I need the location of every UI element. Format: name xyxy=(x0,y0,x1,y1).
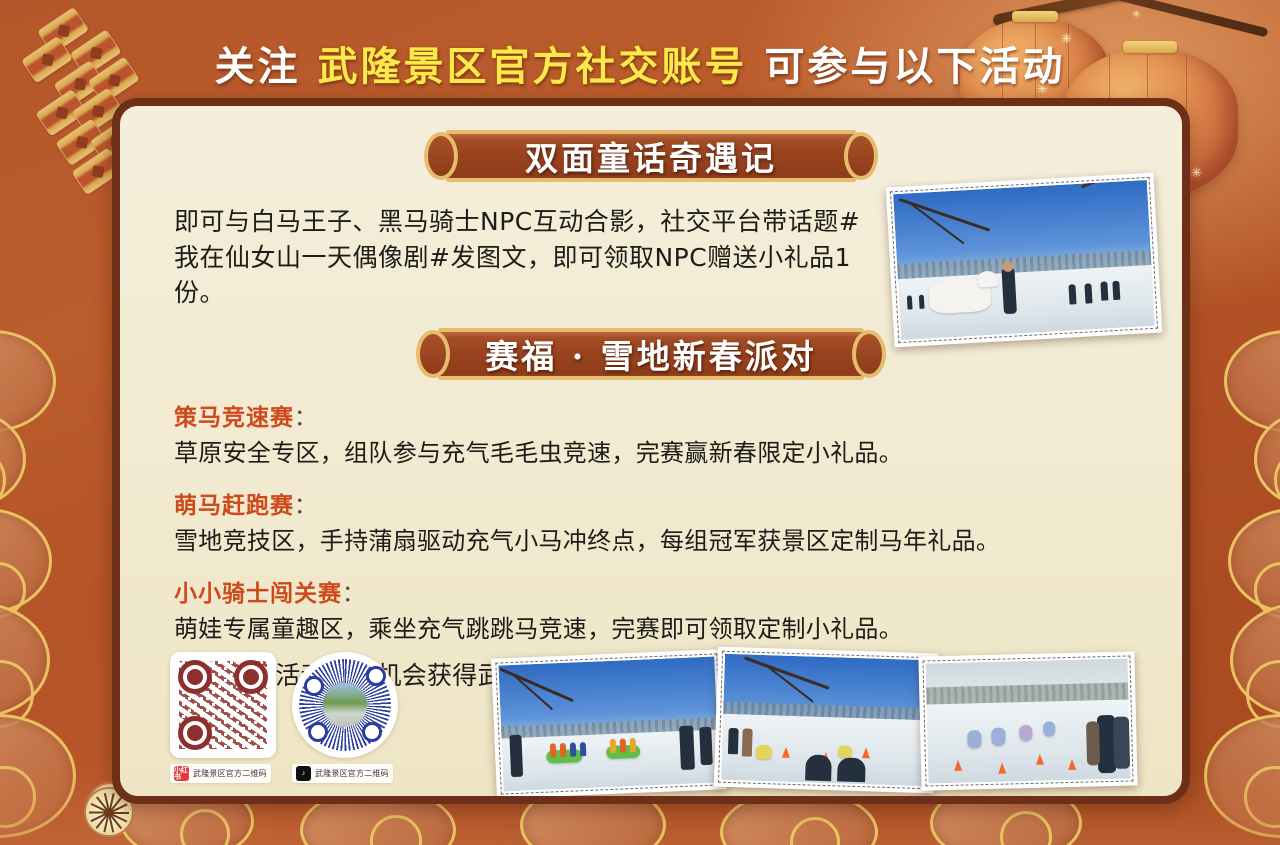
title-highlight: 武隆景区官方社交账号 xyxy=(318,44,748,90)
activity-description: 草原安全专区，组队参与充气毛毛虫竞速，完赛赢新春限定小礼品。 xyxy=(174,433,1154,468)
photo-cone-track xyxy=(918,651,1137,790)
douyin-icon: ♪ xyxy=(296,766,311,781)
main-content-card: 双面童话奇遇记 即可与白马王子、黑马骑士NPC互动合影，社交平台带话题#我在仙女… xyxy=(112,98,1190,804)
qr-caption: 武隆景区官方二维码 xyxy=(315,768,389,779)
photo-snow-field xyxy=(714,647,938,794)
activity-colon: ： xyxy=(294,493,318,519)
photo-horse-rider xyxy=(886,173,1163,348)
activity-item: 萌马赶跑赛： 雪地竞技区，手持蒲扇驱动充气小马冲终点，每组冠军获景区定制马年礼品… xyxy=(174,486,1154,556)
qr-caption: 武隆景区官方二维码 xyxy=(193,768,267,779)
activity-item: 策马竞速赛： 草原安全专区，组队参与充气毛毛虫竞速，完赛赢新春限定小礼品。 xyxy=(174,398,1154,468)
section-banner-snowparty: 赛福 · 雪地新春派对 xyxy=(425,328,877,380)
activity-heading: 萌马赶跑赛 xyxy=(174,493,294,519)
activity-colon: ： xyxy=(342,581,366,607)
qr-image-douyin[interactable] xyxy=(292,652,398,758)
qr-label-xiaohongshu: 小红书 武隆景区官方二维码 xyxy=(170,764,271,783)
title-prefix: 关注 xyxy=(215,44,301,90)
branch-icon xyxy=(992,0,1280,27)
section-banner-fairytale: 双面童话奇遇记 xyxy=(433,130,869,182)
activity-colon: ： xyxy=(294,405,318,431)
intro-paragraph: 即可与白马王子、黑马骑士NPC互动合影，社交平台带话题#我在仙女山一天偶像剧#发… xyxy=(174,204,874,311)
branch-icon xyxy=(1101,0,1268,37)
photo-caterpillar-race xyxy=(491,649,727,799)
poster-root: ✳ ✳ ✳ ✳ ✳ ✳ xyxy=(0,0,1280,845)
qr-label-douyin: ♪ 武隆景区官方二维码 xyxy=(292,764,393,783)
activity-heading: 策马竞速赛 xyxy=(174,405,294,431)
qr-code-douyin[interactable]: ♪ 武隆景区官方二维码 xyxy=(292,652,398,783)
qr-image-xiaohongshu[interactable] xyxy=(170,652,276,758)
qr-code-xiaohongshu[interactable]: 小红书 武隆景区官方二维码 xyxy=(170,652,276,783)
activity-description: 雪地竞技区，手持蒲扇驱动充气小马冲终点，每组冠军获景区定制马年礼品。 xyxy=(174,521,1154,556)
activity-item: 小小骑士闯关赛： 萌娃专属童趣区，乘坐充气跳跳马竞速，完赛即可领取定制小礼品。 xyxy=(174,574,1154,644)
title-suffix: 可参与以下活动 xyxy=(764,44,1065,90)
banner-label: 双面童话奇遇记 xyxy=(525,132,777,180)
page-title: 关注 武隆景区官方社交账号 可参与以下活动 xyxy=(0,34,1280,92)
activity-description: 萌娃专属童趣区，乘坐充气跳跳马竞速，完赛即可领取定制小礼品。 xyxy=(174,609,1154,644)
xiaohongshu-icon: 小红书 xyxy=(174,766,189,781)
banner-label: 赛福 · 雪地新春派对 xyxy=(485,330,816,378)
activity-heading: 小小骑士闯关赛 xyxy=(174,581,342,607)
